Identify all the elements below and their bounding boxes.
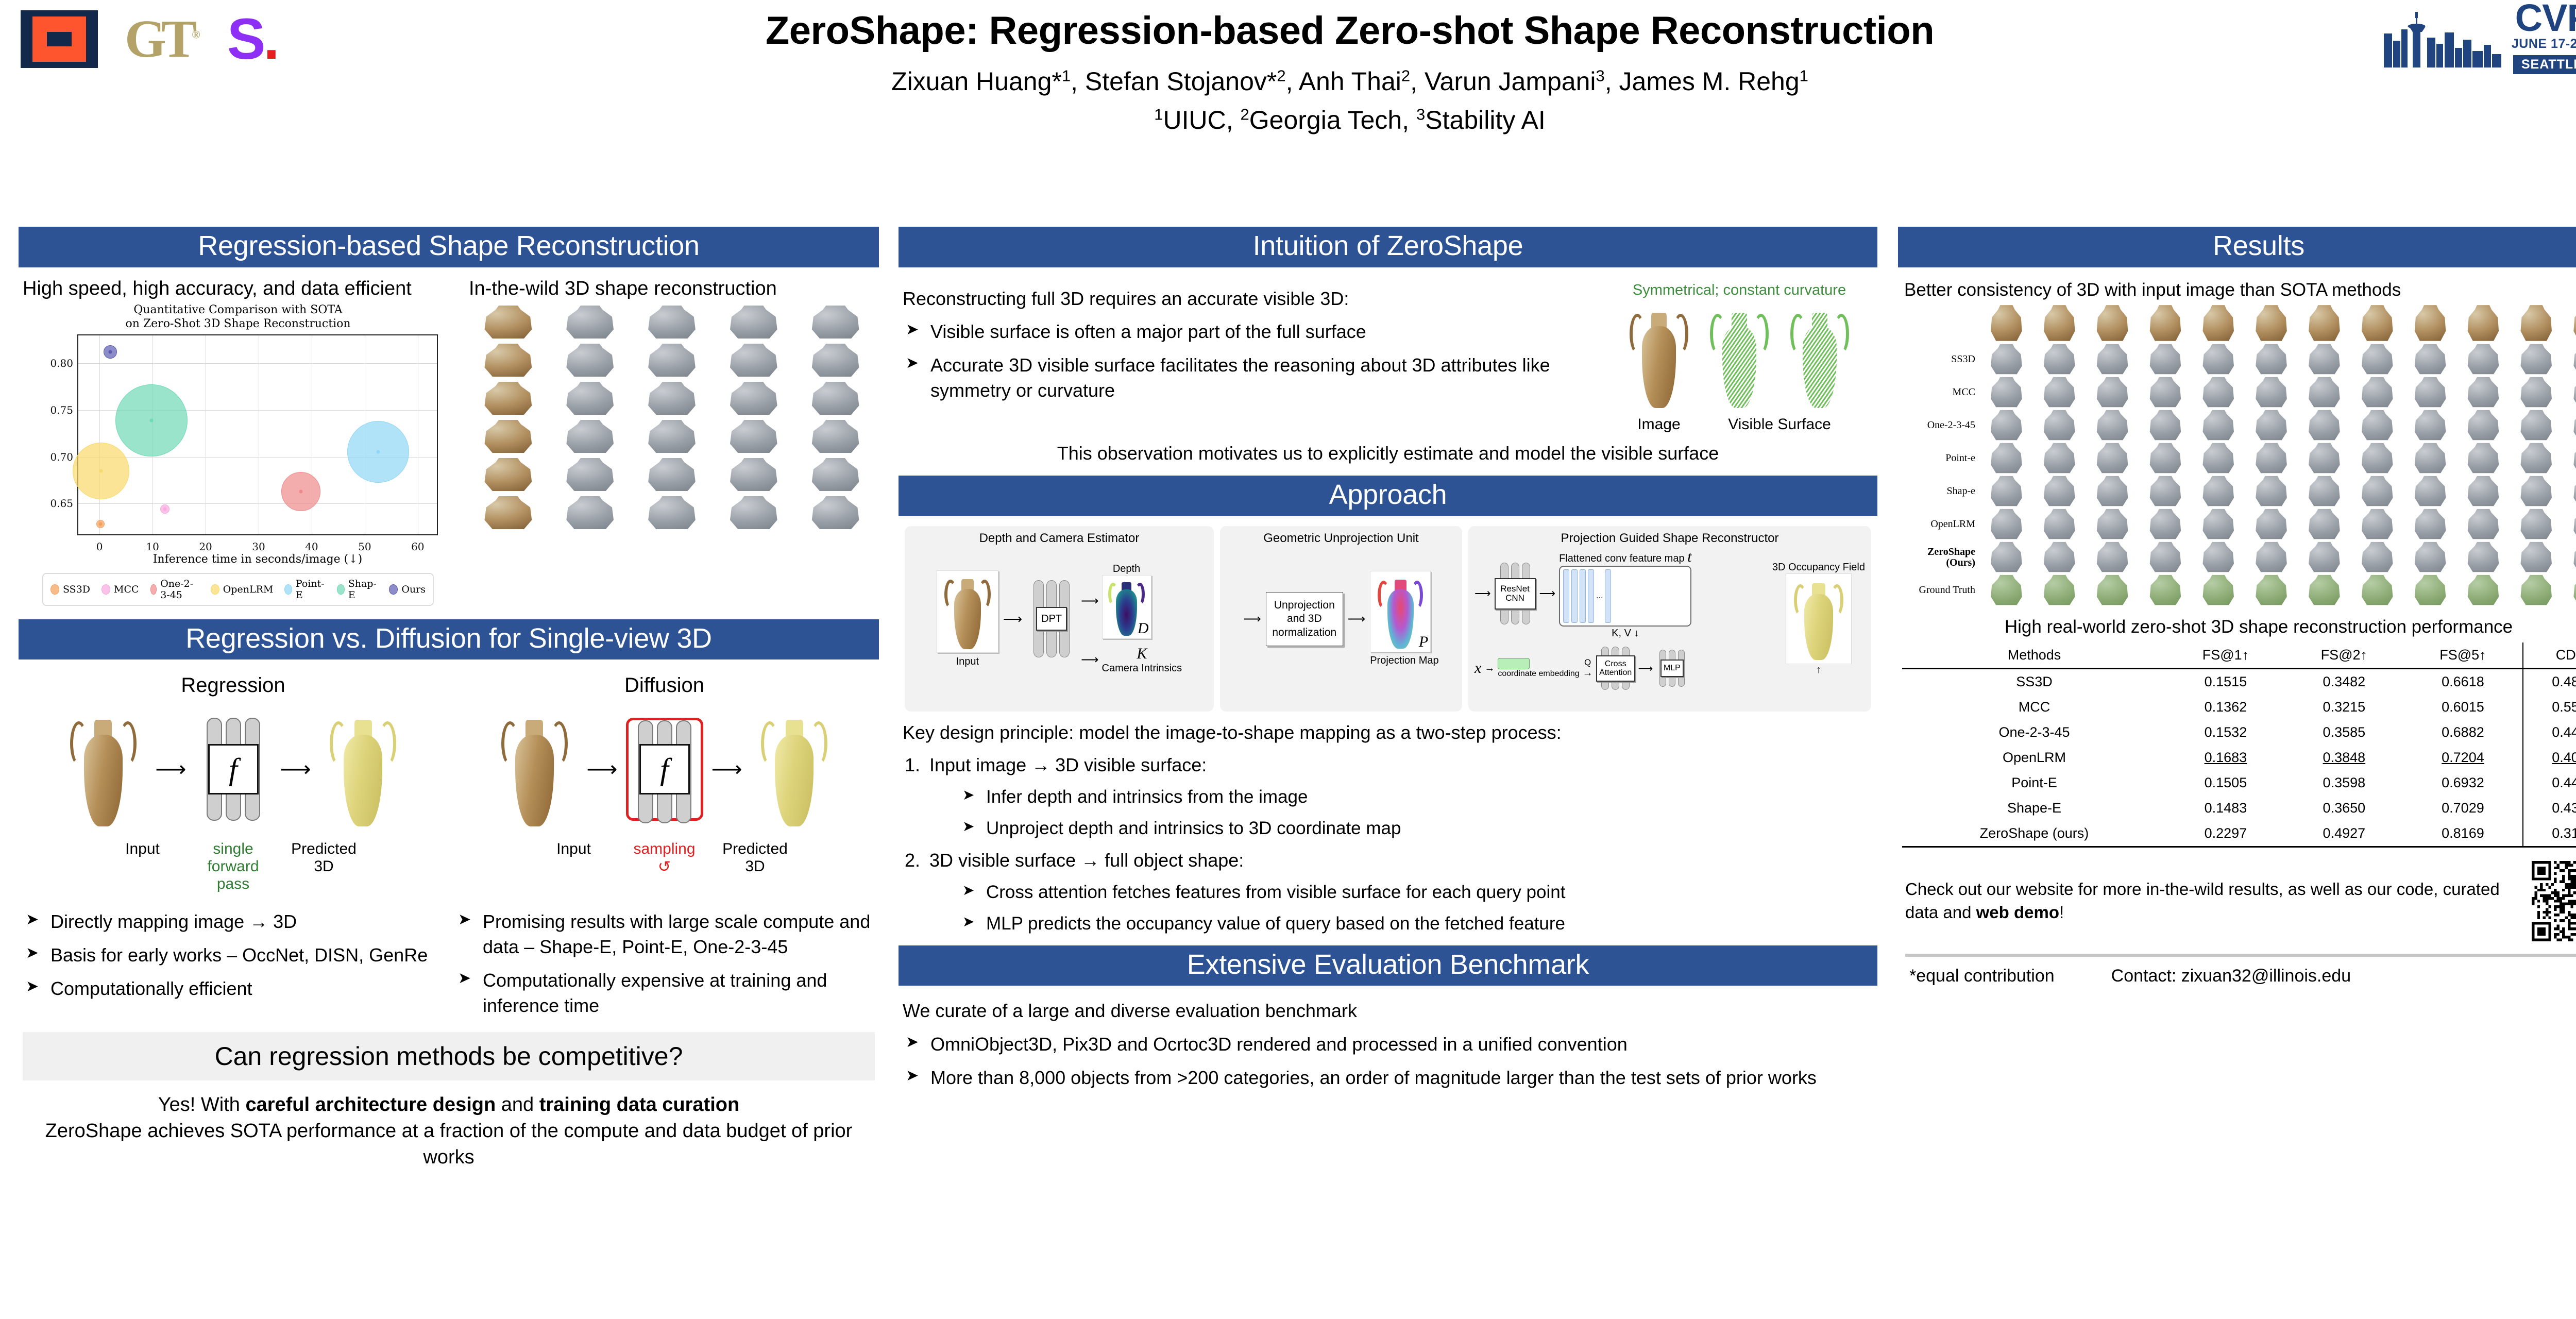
- results-render-cell: [2298, 574, 2350, 606]
- in-the-wild-thumbnail: [469, 305, 548, 340]
- in-the-wild-thumbnail: [796, 458, 875, 493]
- x-tick-label: 10: [146, 540, 159, 553]
- arrow-right-icon: ⟶: [155, 758, 186, 780]
- arrow-up-icon: ↑: [1816, 664, 1821, 676]
- regression-vs-diffusion-figure: Regression ⟶ f ⟶ Input: [23, 674, 875, 893]
- gridline-horizontal: [78, 503, 437, 504]
- results-render-cell: [2351, 377, 2403, 409]
- table-column-header: FS@2↑: [2285, 642, 2403, 669]
- in-the-wild-grid: [469, 305, 875, 531]
- regression-output-shape: [319, 707, 407, 831]
- arrow-right-icon: ⟶: [1003, 611, 1022, 627]
- y-tick-label: 0.65: [50, 497, 73, 510]
- query-point-symbol: x: [1475, 659, 1481, 677]
- results-render-cell: [2351, 410, 2403, 442]
- shape-render: [633, 305, 711, 340]
- results-render-cell: [2192, 344, 2244, 376]
- input-photo: [2087, 305, 2139, 343]
- cvpr-text-block: CVPR JUNE 17-21, 2024 SEATTLE, WA: [2512, 0, 2576, 74]
- results-render-cell: [2404, 574, 2456, 606]
- results-render-cell: [2192, 574, 2244, 606]
- legend-item: OpenLRM: [211, 584, 274, 595]
- input-photo: [2458, 305, 2510, 343]
- table-cell-method: Shape-E: [1902, 796, 2166, 821]
- results-render-cell: [2351, 509, 2403, 540]
- shape-render: [2087, 344, 2139, 376]
- in-the-wild-thumbnail: [551, 381, 630, 416]
- shape-render: [2351, 574, 2403, 606]
- in-the-wild-thumbnail: [714, 458, 793, 493]
- table-cell-value: 0.448: [2523, 770, 2576, 796]
- approach-input-image: [937, 570, 998, 653]
- approach-architecture-diagram: Depth and Camera Estimator Input ⟶ DPT: [903, 526, 1873, 712]
- poster-root: GT® S. ZeroShape: Regression-based Zero-…: [0, 0, 2576, 1319]
- intuition-figure: Symmetrical; constant curvature Image Vi…: [1605, 282, 1873, 433]
- table-cell-value: 0.8169: [2403, 821, 2523, 847]
- chart-x-axis-label: Inference time in seconds/image (↓): [66, 553, 449, 566]
- shape-render: [2458, 574, 2510, 606]
- results-render-cell: [2404, 509, 2456, 540]
- feature-map-ellipsis: ...: [1596, 591, 1603, 601]
- shape-render: [2298, 542, 2350, 573]
- diffusion-title: Diffusion: [454, 674, 875, 697]
- scatter-point-center: [150, 418, 154, 422]
- table-cell-method: One-2-3-45: [1902, 720, 2166, 745]
- bullet-item: Computationally efficient: [23, 976, 443, 1002]
- in-the-wild-thumbnail: [714, 419, 793, 454]
- in-the-wild-thumbnail: [796, 305, 875, 340]
- bullet-item: Accurate 3D visible surface facilitates …: [903, 353, 1593, 403]
- results-render-cell: [2140, 509, 2192, 540]
- key-design-principle: Key design principle: model the image-to…: [903, 720, 1873, 746]
- results-render-cell: [2087, 509, 2139, 540]
- step-sub-bullets: Cross attention fetches features from vi…: [960, 881, 1873, 936]
- table-cell-value: 0.310: [2523, 821, 2576, 847]
- shape-render: [469, 458, 548, 493]
- results-render-cell: [2245, 476, 2297, 508]
- shape-render: [2404, 443, 2456, 475]
- results-render-cell: [2087, 344, 2139, 376]
- shape-render: [2192, 542, 2244, 573]
- results-render-cell: [2510, 509, 2562, 540]
- closing-mid: and: [496, 1094, 539, 1115]
- scatter-point-center: [376, 450, 380, 454]
- scatter-point-center: [99, 469, 103, 472]
- shape-render: [714, 496, 793, 531]
- results-row-label: OpenLRM: [1902, 519, 1979, 530]
- shape-render: [2140, 443, 2192, 475]
- legend-item: One-2-3-45: [150, 578, 199, 601]
- results-render-cell: [2351, 542, 2403, 573]
- table-column-header: Methods: [1902, 642, 2166, 669]
- query-label: Q: [1583, 657, 1593, 668]
- results-render-cell: [2298, 410, 2350, 442]
- in-the-wild-thumbnail: [796, 343, 875, 378]
- legend-label: MCC: [114, 584, 139, 595]
- shape-render: [2087, 443, 2139, 475]
- section-regression-vs-diffusion: Regression vs. Diffusion for Single-view…: [19, 619, 879, 1171]
- legend-item: SS3D: [50, 584, 90, 595]
- shape-render: [2404, 542, 2456, 573]
- shape-render: [2458, 443, 2510, 475]
- results-input-image: [1980, 305, 2032, 343]
- section-approach: Approach Depth and Camera Estimator Inpu…: [899, 476, 1877, 936]
- shape-render: [2351, 509, 2403, 540]
- results-render-cell: [2298, 509, 2350, 540]
- results-render-cell: [1980, 542, 2032, 573]
- stability-letter: S: [227, 7, 264, 71]
- shape-render: [2298, 476, 2350, 508]
- table-cell-value: 0.6932: [2403, 770, 2523, 796]
- in-the-wild-thumbnail: [551, 458, 630, 493]
- shape-render: [796, 305, 875, 340]
- diffusion-output-label: Predicted 3D: [711, 840, 799, 876]
- mlp-block: MLP: [1656, 650, 1688, 687]
- shape-render: [551, 496, 630, 531]
- section-header-approach: Approach: [899, 476, 1877, 516]
- cvpr-date: JUNE 17-21, 2024: [2512, 37, 2576, 52]
- shape-render: [2458, 476, 2510, 508]
- scatter-point-one-2-3-45: [281, 472, 320, 511]
- arrow-right-icon: ⟶: [1081, 594, 1098, 608]
- in-the-wild-thumbnail: [796, 381, 875, 416]
- shape-render: [2245, 542, 2297, 573]
- shape-render: [1980, 542, 2032, 573]
- shape-render: [2087, 476, 2139, 508]
- intuition-text: Reconstructing full 3D requires an accur…: [903, 282, 1593, 433]
- shape-render: [2351, 410, 2403, 442]
- shape-render: [2140, 410, 2192, 442]
- table-row: OpenLRM0.16830.38480.72040.407: [1902, 745, 2576, 770]
- table-row: Point-E0.15050.35980.69320.448: [1902, 770, 2576, 796]
- shape-render: [714, 419, 793, 454]
- panel-projection-guided-shape-reconstructor: Projection Guided Shape Reconstructor ⟶ …: [1468, 526, 1871, 712]
- table-cell-value: 0.3482: [2285, 668, 2403, 695]
- diffusion-function-symbol: f: [639, 744, 690, 794]
- qr-text-bold: web demo: [1976, 903, 2059, 922]
- scatter-point-ss3d: [96, 520, 105, 528]
- regression-input-image: [59, 707, 147, 831]
- shape-render: [2245, 574, 2297, 606]
- results-render-cell: [2140, 410, 2192, 442]
- arrow-right-icon: →: [1484, 663, 1495, 674]
- panel3-title: Projection Guided Shape Reconstructor: [1475, 531, 1865, 546]
- closing-line-2: ZeroShape achieves SOTA performance at a…: [45, 1120, 853, 1168]
- results-render-cell: [2033, 574, 2086, 606]
- shape-render: [2510, 410, 2562, 442]
- shape-render: [2510, 377, 2562, 409]
- section-benchmark: Extensive Evaluation Benchmark We curate…: [899, 945, 1877, 1091]
- x-tick-label: 40: [305, 540, 318, 553]
- results-render-cell: [2563, 542, 2576, 573]
- results-render-cell: [2510, 542, 2562, 573]
- shape-render: [2404, 344, 2456, 376]
- table-cell-method: SS3D: [1902, 668, 2166, 695]
- diffusion-mid-label: sampling ↺: [626, 840, 703, 876]
- shape-render: [2298, 443, 2350, 475]
- bullet-item: Computationally expensive at training an…: [455, 968, 875, 1019]
- depth-map-image: D: [1102, 575, 1151, 639]
- institution-logos: GT® S.: [21, 10, 278, 68]
- sub-bullet-item: Cross attention fetches features from vi…: [960, 881, 1873, 905]
- qr-code[interactable]: [2532, 861, 2576, 941]
- symmetry-caption: Symmetrical; constant curvature: [1605, 282, 1873, 299]
- shape-render: [2458, 542, 2510, 573]
- shape-render: [1980, 377, 2032, 409]
- legend-item: Point-E: [284, 578, 326, 601]
- in-the-wild-thumbnail: [714, 496, 793, 531]
- shape-render: [633, 458, 711, 493]
- results-render-cell: [2140, 344, 2192, 376]
- depth-symbol: D: [1138, 620, 1149, 637]
- qr-text-post: !: [2059, 903, 2064, 922]
- results-render-cell: [2563, 476, 2576, 508]
- step-number: 2.: [905, 848, 920, 873]
- closing-pre: Yes! With: [158, 1094, 246, 1115]
- shape-render: [2563, 574, 2576, 606]
- shape-render: [796, 343, 875, 378]
- bullet-item: OmniObject3D, Pix3D and Ocrtoc3D rendere…: [903, 1032, 1873, 1057]
- regression-output-label: Predicted 3D: [280, 840, 368, 893]
- intuition-lead: Reconstructing full 3D requires an accur…: [903, 286, 1593, 312]
- projection-map-label: Projection Map: [1370, 655, 1438, 667]
- shape-render: [2510, 542, 2562, 573]
- gt-registered-icon: ®: [192, 28, 200, 41]
- panel1-input-label: Input: [937, 656, 998, 668]
- shape-render: [1980, 410, 2032, 442]
- camera-intrinsics-symbol: K: [1102, 645, 1182, 663]
- results-input-image: [2351, 305, 2403, 343]
- shape-render: [2245, 509, 2297, 540]
- cvpr-logo: CVPR JUNE 17-21, 2024 SEATTLE, WA: [2282, 6, 2576, 68]
- shape-render: [1980, 344, 2032, 376]
- table-cell-method: MCC: [1902, 695, 2166, 720]
- regression-title: Regression: [23, 674, 444, 697]
- results-render-cell: [2458, 344, 2510, 376]
- shape-render: [2192, 344, 2244, 376]
- results-render-cell: [2563, 509, 2576, 540]
- table-cell-value: 0.2297: [2166, 821, 2285, 847]
- chart-legend: SS3DMCCOne-2-3-45OpenLRMPoint-EShap-EOur…: [42, 573, 434, 606]
- left-column: Regression-based Shape Reconstruction Hi…: [19, 227, 879, 1171]
- results-input-image: [2192, 305, 2244, 343]
- results-render-cell: [2140, 542, 2192, 573]
- shape-render: [2033, 377, 2086, 409]
- in-the-wild-thumbnail: [551, 343, 630, 378]
- table-cell-value: 0.4927: [2285, 821, 2403, 847]
- input-photo: [2245, 305, 2297, 343]
- legend-label: Shap-E: [348, 578, 378, 601]
- table-cell-value: 0.6015: [2403, 695, 2523, 720]
- scatter-point-mcc: [160, 504, 170, 514]
- shape-render: [469, 419, 548, 454]
- benchmark-lead: We curate of a large and diverse evaluat…: [903, 998, 1873, 1024]
- results-render-cell: [2087, 574, 2139, 606]
- shape-render: [2404, 509, 2456, 540]
- results-render-cell: [2404, 476, 2456, 508]
- scatter-point-center: [163, 508, 166, 511]
- bullet-item: Basis for early works – OccNet, DISN, Ge…: [23, 943, 443, 968]
- in-the-wild-thumbnail: [469, 496, 548, 531]
- shape-render: [2245, 443, 2297, 475]
- results-input-image: [2510, 305, 2562, 343]
- scatter-point-openlrm: [73, 443, 129, 499]
- table-cell-value: 0.1362: [2166, 695, 2285, 720]
- mlp-label: MLP: [1660, 659, 1684, 677]
- shape-render: [796, 419, 875, 454]
- input-photo: [2033, 305, 2086, 343]
- subhead-speed-accuracy: High speed, high accuracy, and data effi…: [23, 278, 461, 300]
- table-row: ZeroShape (ours)0.22970.49270.81690.310: [1902, 821, 2576, 847]
- shape-render: [2087, 377, 2139, 409]
- shape-render: [2351, 542, 2403, 573]
- results-render-cell: [2404, 410, 2456, 442]
- shape-render: [2033, 344, 2086, 376]
- results-render-cell: [2563, 344, 2576, 376]
- section-header-2: Regression vs. Diffusion for Single-view…: [19, 619, 879, 660]
- gt-text: GT: [125, 9, 192, 69]
- shape-render: [2563, 443, 2576, 475]
- affiliation-list: 1UIUC, 2Georgia Tech, 3Stability AI: [526, 105, 2174, 135]
- shape-render: [2245, 377, 2297, 409]
- shape-render: [633, 343, 711, 378]
- cross-attention-label: Cross Attention: [1596, 655, 1635, 682]
- table-cell-method: ZeroShape (ours): [1902, 821, 2166, 847]
- table-column-header: FS@1↑: [2166, 642, 2285, 669]
- input-photo: [2404, 305, 2456, 343]
- results-render-cell: [2140, 574, 2192, 606]
- in-the-wild-thumbnail: [469, 381, 548, 416]
- input-photo: [1980, 305, 2032, 343]
- results-render-cell: [2033, 509, 2086, 540]
- shape-render: [2192, 443, 2244, 475]
- results-render-cell: [1980, 476, 2032, 508]
- resnet-cnn-block: ResNet CNN: [1495, 563, 1536, 624]
- shape-render: [796, 458, 875, 493]
- illinois-logo: [21, 10, 98, 68]
- results-render-cell: [2087, 443, 2139, 475]
- results-row-label: One-2-3-45: [1902, 420, 1979, 431]
- results-row-label: ZeroShape (Ours): [1902, 547, 1979, 568]
- shape-render: [2033, 443, 2086, 475]
- panel-depth-camera-estimator: Depth and Camera Estimator Input ⟶ DPT: [905, 526, 1214, 712]
- results-render-cell: [2033, 377, 2086, 409]
- shape-render: [2192, 377, 2244, 409]
- legend-swatch: [101, 584, 110, 595]
- results-render-cell: [2458, 574, 2510, 606]
- in-the-wild-thumbnail: [469, 343, 548, 378]
- shape-render: [2033, 574, 2086, 606]
- caption-image: Image: [1620, 416, 1698, 433]
- panel2-title: Geometric Unprojection Unit: [1226, 531, 1456, 546]
- results-input-image: [2087, 305, 2139, 343]
- shape-render: [2458, 377, 2510, 409]
- flattened-feature-map: ...: [1559, 566, 1691, 627]
- shape-render: [469, 496, 548, 531]
- shape-render: [469, 305, 548, 340]
- results-render-cell: [2192, 377, 2244, 409]
- regression-pipeline: Regression ⟶ f ⟶ Input: [23, 674, 444, 893]
- table-cell-value: 0.1515: [2166, 668, 2285, 695]
- qualitative-results-note: Better consistency of 3D with input imag…: [1904, 280, 2576, 300]
- shape-render: [2245, 476, 2297, 508]
- shape-render: [2087, 542, 2139, 573]
- coordinate-embedding-chip: [1498, 658, 1530, 669]
- benchmark-bullets: OmniObject3D, Pix3D and Ocrtoc3D rendere…: [903, 1032, 1873, 1091]
- shape-render: [2510, 443, 2562, 475]
- regression-input-label: Input: [99, 840, 187, 893]
- chart-title: Quantitative Comparison with SOTAon Zero…: [27, 303, 449, 331]
- shape-render: [633, 419, 711, 454]
- shape-render: [551, 343, 630, 378]
- intuition-visible-surface-2: [1781, 302, 1858, 413]
- shape-render: [551, 419, 630, 454]
- unprojection-box: Unprojection and 3D normalization: [1266, 592, 1343, 646]
- qualitative-results-grid: SS3DMCCOne-2-3-45Point-eShap-eOpenLRMZer…: [1902, 305, 2576, 606]
- diffusion-function-block: f: [626, 718, 703, 821]
- in-the-wild-thumbnail: [469, 419, 548, 454]
- table-header-row: MethodsFS@1↑FS@2↑FS@5↑CD↓: [1902, 642, 2576, 669]
- x-tick-label: 50: [358, 540, 371, 553]
- shape-render: [2510, 574, 2562, 606]
- intuition-image-photo: [1620, 302, 1698, 413]
- section-header-1: Regression-based Shape Reconstruction: [19, 227, 879, 267]
- approach-step: 2.3D visible surface → full object shape…: [903, 848, 1873, 936]
- shape-render: [2192, 574, 2244, 606]
- shape-render: [2087, 509, 2139, 540]
- results-render-cell: [1980, 344, 2032, 376]
- results-render-cell: [2351, 574, 2403, 606]
- dpt-network-block: DPT: [1027, 580, 1076, 657]
- results-render-cell: [2298, 443, 2350, 475]
- shape-render: [2510, 476, 2562, 508]
- legend-swatch: [211, 584, 219, 595]
- intuition-motivation: This observation motivates us to explici…: [903, 443, 1873, 464]
- legend-item: Ours: [389, 584, 426, 595]
- shape-render: [551, 305, 630, 340]
- occupancy-field-image: [1786, 573, 1852, 664]
- table-column-header: FS@5↑: [2403, 642, 2523, 669]
- table-cell-value: 0.7204: [2403, 745, 2523, 770]
- shape-render: [633, 496, 711, 531]
- feature-map-symbol: t: [1687, 548, 1691, 565]
- shape-render: [796, 381, 875, 416]
- shape-render: [2192, 509, 2244, 540]
- legend-swatch: [337, 584, 345, 595]
- table-cell-value: 0.6882: [2403, 720, 2523, 745]
- results-render-cell: [2192, 476, 2244, 508]
- closing-bold-2: training data curation: [539, 1094, 739, 1115]
- shape-render: [551, 458, 630, 493]
- depth-label: Depth: [1102, 563, 1151, 575]
- in-the-wild-thumbnail: [551, 305, 630, 340]
- shape-render: [2140, 476, 2192, 508]
- shape-render: [469, 343, 548, 378]
- input-photo: [2510, 305, 2562, 343]
- scatter-point-point-e: [347, 421, 409, 483]
- x-tick-label: 30: [252, 540, 265, 553]
- sub-bullet-item: MLP predicts the occupancy value of quer…: [960, 912, 1873, 936]
- shape-render: [2140, 377, 2192, 409]
- shape-render: [2192, 410, 2244, 442]
- results-render-cell: [2033, 443, 2086, 475]
- shape-render: [2563, 410, 2576, 442]
- results-render-cell: [2458, 377, 2510, 409]
- closing-statement: Yes! With careful architecture design an…: [23, 1092, 875, 1171]
- shape-render: [2351, 476, 2403, 508]
- shape-render: [714, 305, 793, 340]
- arrow-right-icon: ⟶: [280, 758, 311, 780]
